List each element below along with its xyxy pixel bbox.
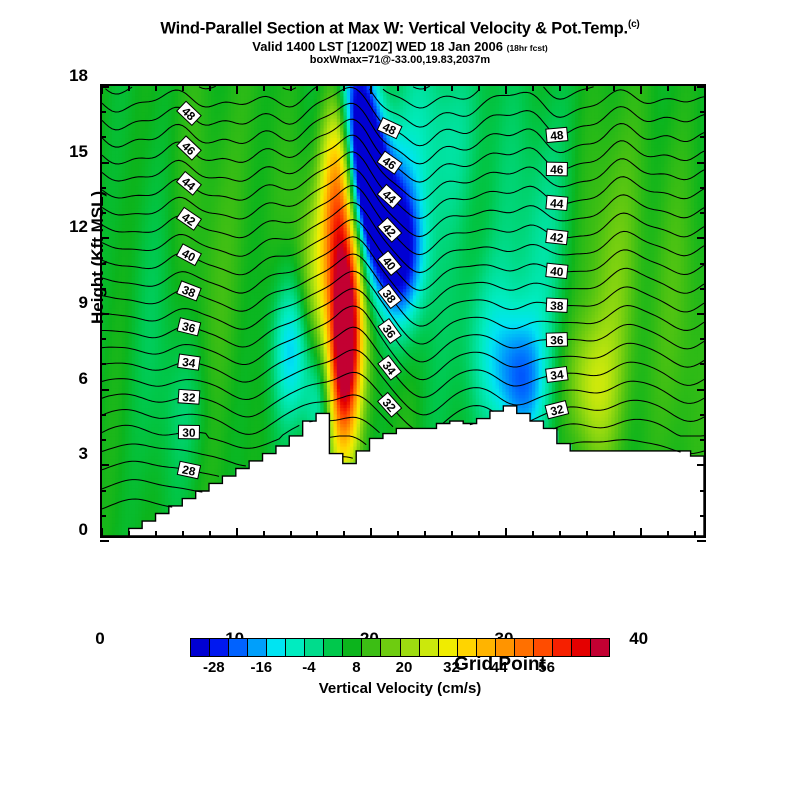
- colorbar-tick-labels: -28-16-4820324456: [190, 659, 610, 679]
- y-tick: [700, 439, 706, 441]
- x-tick: [505, 84, 507, 94]
- x-tick: [559, 531, 561, 538]
- y-tick: [100, 515, 106, 517]
- colorbar-tick-label: 44: [491, 659, 508, 676]
- x-tick: [667, 531, 669, 538]
- x-tick: [209, 84, 211, 91]
- x-tick: [101, 84, 103, 94]
- y-tick: [100, 464, 109, 466]
- x-tick: [236, 84, 238, 94]
- colorbar-swatch-14: [458, 639, 477, 656]
- colorbar-title: Vertical Velocity (cm/s): [0, 680, 800, 697]
- y-tick: [700, 187, 706, 189]
- plot-frame: 2830323232343434363636383838404040424242…: [100, 84, 706, 538]
- y-tick: [100, 288, 106, 290]
- colorbar-tick-label: 8: [352, 659, 360, 676]
- y-tick-label: 0: [42, 520, 88, 540]
- x-tick: [478, 531, 480, 538]
- y-tick: [100, 237, 109, 239]
- x-tick: [343, 531, 345, 538]
- y-tick: [100, 187, 106, 189]
- main-title-text: Wind-Parallel Section at Max W: Vertical…: [160, 20, 628, 38]
- y-tick: [697, 86, 706, 88]
- x-tick: [505, 528, 507, 538]
- y-tick-label: 3: [42, 444, 88, 464]
- y-tick: [697, 313, 706, 315]
- colorbar-tick-label: 32: [443, 659, 460, 676]
- x-tick: [182, 531, 184, 538]
- colorbar-swatch-1: [210, 639, 229, 656]
- x-tick: [613, 84, 615, 91]
- x-tick: [667, 84, 669, 91]
- x-tick: [155, 84, 157, 91]
- colorbar-swatch-3: [248, 639, 267, 656]
- x-tick-label: 0: [80, 629, 120, 649]
- x-tick: [478, 84, 480, 91]
- y-tick: [697, 389, 706, 391]
- y-tick: [100, 414, 106, 416]
- colorbar-swatch-8: [343, 639, 362, 656]
- y-tick: [697, 237, 706, 239]
- x-tick: [128, 531, 130, 538]
- colorbar-swatches: [190, 638, 610, 657]
- y-tick: [700, 111, 706, 113]
- y-tick: [100, 136, 106, 138]
- x-tick: [236, 528, 238, 538]
- colorbar-swatch-15: [477, 639, 496, 656]
- colorbar-swatch-20: [572, 639, 591, 656]
- x-tick: [209, 531, 211, 538]
- y-tick-label: 18: [42, 66, 88, 86]
- colorbar: -28-16-4820324456: [190, 638, 610, 679]
- colorbar-swatch-10: [381, 639, 400, 656]
- x-tick: [370, 528, 372, 538]
- x-tick: [397, 84, 399, 91]
- x-tick: [424, 84, 426, 91]
- y-tick: [100, 363, 106, 365]
- colorbar-swatch-21: [591, 639, 609, 656]
- y-tick: [700, 136, 706, 138]
- x-tick: [613, 531, 615, 538]
- y-tick: [697, 464, 706, 466]
- x-tick: [640, 528, 642, 538]
- x-tick: [397, 531, 399, 538]
- y-tick: [100, 313, 109, 315]
- x-tick: [263, 84, 265, 91]
- x-tick: [586, 531, 588, 538]
- colorbar-swatch-2: [229, 639, 248, 656]
- colorbar-swatch-13: [439, 639, 458, 656]
- y-tick: [700, 212, 706, 214]
- y-tick-label: 6: [42, 369, 88, 389]
- x-tick: [532, 531, 534, 538]
- x-tick: [290, 531, 292, 538]
- boxwmax-annotation: boxWmax=71@-33.00,19.83,2037m: [0, 55, 800, 67]
- x-tick: [101, 528, 103, 538]
- x-tick: [316, 84, 318, 91]
- y-tick: [700, 288, 706, 290]
- colorbar-swatch-0: [191, 639, 210, 656]
- colorbar-swatch-5: [286, 639, 305, 656]
- colorbar-swatch-18: [534, 639, 553, 656]
- vertical-velocity-field: 2830323232343434363636383838404040424242…: [102, 86, 704, 536]
- y-tick-label: 12: [42, 217, 88, 237]
- y-tick-label: 9: [42, 293, 88, 313]
- x-tick: [694, 531, 696, 538]
- colorbar-swatch-4: [267, 639, 286, 656]
- x-tick: [263, 531, 265, 538]
- page-title: Wind-Parallel Section at Max W: Vertical…: [0, 20, 800, 38]
- plot-area: 2830323232343434363636383838404040424242…: [100, 84, 706, 538]
- y-tick: [700, 338, 706, 340]
- y-tick: [700, 263, 706, 265]
- colorbar-swatch-7: [324, 639, 343, 656]
- y-tick: [700, 490, 706, 492]
- colorbar-tick-label: -4: [302, 659, 315, 676]
- y-tick: [100, 490, 106, 492]
- copyright-mark: (c): [628, 19, 640, 30]
- x-tick: [451, 84, 453, 91]
- colorbar-tick-label: -16: [250, 659, 272, 676]
- y-tick: [100, 212, 106, 214]
- y-tick: [100, 162, 109, 164]
- x-tick: [370, 84, 372, 94]
- colorbar-swatch-16: [496, 639, 515, 656]
- x-tick: [424, 531, 426, 538]
- x-tick: [128, 84, 130, 91]
- valid-time-text: Valid 1400 LST [1200Z] WED 18 Jan 2006: [252, 39, 503, 54]
- colorbar-swatch-12: [420, 639, 439, 656]
- colorbar-swatch-17: [515, 639, 534, 656]
- x-tick: [316, 531, 318, 538]
- valid-time-subtitle: Valid 1400 LST [1200Z] WED 18 Jan 2006 (…: [0, 40, 800, 54]
- y-tick: [100, 389, 109, 391]
- x-tick: [559, 84, 561, 91]
- colorbar-swatch-19: [553, 639, 572, 656]
- x-tick: [640, 84, 642, 94]
- y-tick: [700, 414, 706, 416]
- y-axis-label: Height (Kft MSL): [88, 191, 108, 324]
- y-tick: [100, 540, 109, 542]
- y-tick: [700, 363, 706, 365]
- colorbar-swatch-6: [305, 639, 324, 656]
- x-tick: [586, 84, 588, 91]
- forecast-hour-text: (18hr fcst): [507, 43, 548, 53]
- y-tick: [100, 338, 106, 340]
- x-tick: [694, 84, 696, 91]
- y-tick-label: 15: [42, 142, 88, 162]
- y-tick: [697, 540, 706, 542]
- x-tick: [182, 84, 184, 91]
- y-tick: [100, 111, 106, 113]
- colorbar-tick-label: -28: [203, 659, 225, 676]
- y-tick: [697, 162, 706, 164]
- y-tick: [100, 263, 106, 265]
- x-tick: [290, 84, 292, 91]
- x-tick: [343, 84, 345, 91]
- y-tick: [700, 515, 706, 517]
- colorbar-tick-label: 56: [538, 659, 555, 676]
- x-tick: [532, 84, 534, 91]
- x-tick-label: 40: [619, 629, 659, 649]
- x-tick: [155, 531, 157, 538]
- colorbar-swatch-9: [362, 639, 381, 656]
- x-tick: [451, 531, 453, 538]
- y-tick: [100, 439, 106, 441]
- title-block: Wind-Parallel Section at Max W: Vertical…: [0, 20, 800, 67]
- colorbar-tick-label: 20: [396, 659, 413, 676]
- colorbar-swatch-11: [401, 639, 420, 656]
